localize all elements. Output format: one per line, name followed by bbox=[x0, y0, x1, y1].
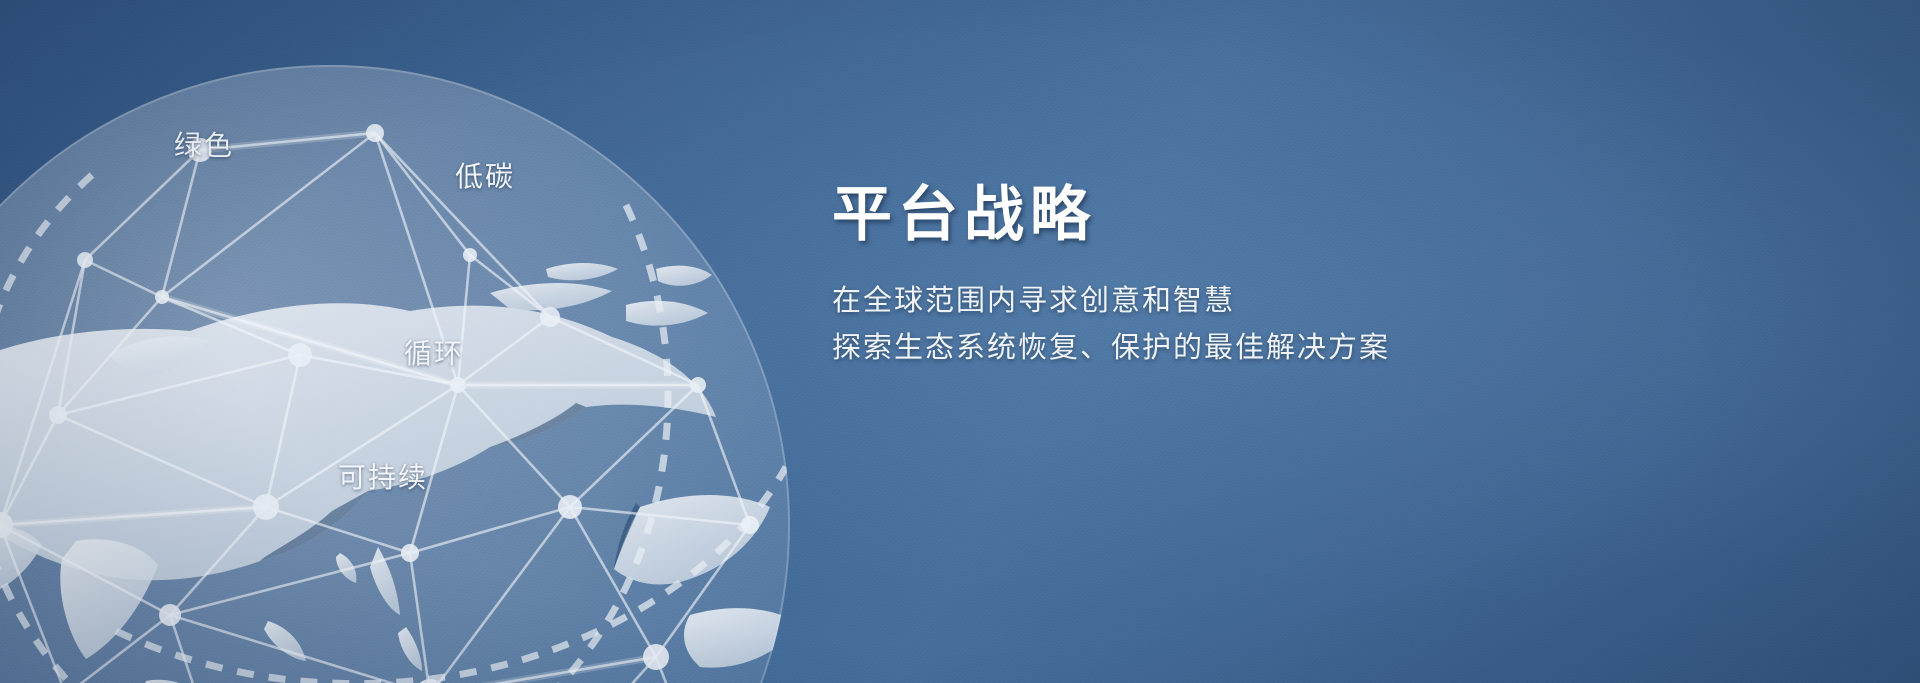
keyword-label-green: 绿色 bbox=[174, 124, 234, 164]
subtitle-line-2: 探索生态系统恢复、保护的最佳解决方案 bbox=[832, 325, 1732, 372]
keyword-label-sustainable: 可持续 bbox=[338, 456, 428, 496]
keyword-label-low-carbon: 低碳 bbox=[455, 155, 515, 195]
hero-banner: 绿色 低碳 循环 可持续 平台战略 在全球范围内寻求创意和智慧 探索生态系统恢复… bbox=[0, 0, 1920, 683]
page-title: 平台战略 bbox=[832, 183, 1732, 248]
keyword-label-circular: 循环 bbox=[404, 332, 464, 372]
subtitle-line-1: 在全球范围内寻求创意和智慧 bbox=[832, 278, 1732, 325]
headline-block: 平台战略 在全球范围内寻求创意和智慧 探索生态系统恢复、保护的最佳解决方案 bbox=[832, 183, 1732, 372]
